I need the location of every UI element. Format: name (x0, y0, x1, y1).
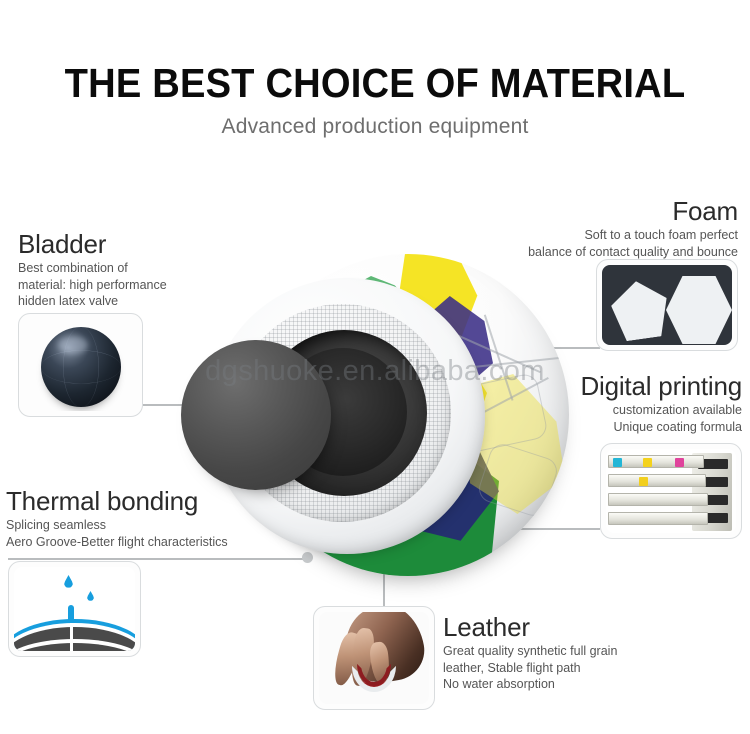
feature-foam-text: Foam Soft to a touch foam perfect balanc… (528, 197, 738, 260)
bladder-description: Best combination of material: high perfo… (18, 260, 167, 310)
digital-printing-image-card (600, 443, 742, 539)
latex-bladder-sphere (181, 340, 331, 490)
foam-hexagon-panel (666, 276, 732, 344)
thermal-bonding-description: Splicing seamless Aero Groove-Better fli… (6, 517, 228, 550)
page-subtitle: Advanced production equipment (0, 115, 750, 139)
gloss-highlight (58, 336, 88, 354)
seam-center-split (70, 623, 73, 651)
bladder-line-2: material: high performance (18, 277, 167, 294)
ink-cyan (613, 458, 622, 467)
foam-image-card (596, 259, 738, 351)
hand-bending-leather-photo (319, 612, 429, 704)
ink-yellow (639, 477, 648, 486)
foam-pentagon-panel (608, 277, 672, 342)
foam-line-1: Soft to a touch foam perfect (528, 227, 738, 244)
ink-tray (608, 493, 708, 506)
thermal-bonding-heading: Thermal bonding (6, 487, 228, 515)
ink-tray (608, 474, 706, 487)
digital-printing-heading: Digital printing (580, 372, 742, 400)
feature-bladder-text: Bladder Best combination of material: hi… (18, 230, 167, 310)
feature-digital-printing-text: Digital printing customization available… (580, 372, 742, 435)
feature-leather-text: Leather Great quality synthetic full gra… (443, 613, 617, 693)
leather-image-card (313, 606, 435, 710)
bladder-image-card (18, 313, 143, 417)
thermal-bonding-image-card (8, 561, 141, 657)
bladder-line-3: hidden latex valve (18, 293, 167, 310)
cutaway-ball-illustration (175, 248, 575, 588)
ink-tray (608, 512, 708, 525)
leather-heading: Leather (443, 613, 617, 641)
feature-thermal-bonding-text: Thermal bonding Splicing seamless Aero G… (6, 487, 228, 550)
leather-line-1: Great quality synthetic full grain (443, 643, 617, 660)
thermal-bonding-line-2: Aero Groove-Better flight characteristic… (6, 534, 228, 551)
foam-line-2: balance of contact quality and bounce (528, 244, 738, 261)
digital-printing-description: customization available Unique coating f… (580, 402, 742, 435)
water-droplet (64, 575, 73, 588)
bladder-photo (24, 319, 137, 411)
leather-line-3: No water absorption (443, 676, 617, 693)
leather-line-2: leather, Stable flight path (443, 660, 617, 677)
latex-bladder-ball-graphic (41, 327, 121, 407)
thermal-bonding-line-1: Splicing seamless (6, 517, 228, 534)
infographic-canvas: THE BEST CHOICE OF MATERIAL Advanced pro… (0, 0, 750, 734)
ink-magenta (675, 458, 684, 467)
page-title: THE BEST CHOICE OF MATERIAL (26, 62, 724, 105)
bladder-heading: Bladder (18, 230, 167, 258)
ink-tray (608, 455, 704, 468)
water-droplet (87, 591, 94, 601)
foam-heading: Foam (528, 197, 738, 225)
header: THE BEST CHOICE OF MATERIAL Advanced pro… (0, 62, 750, 139)
digital-printing-line-1: customization available (580, 402, 742, 419)
bladder-line-1: Best combination of (18, 260, 167, 277)
foam-description: Soft to a touch foam perfect balance of … (528, 227, 738, 260)
digital-printer-photo (606, 449, 736, 533)
ink-yellow (643, 458, 652, 467)
foam-photo (602, 265, 732, 345)
waterproof-seam-diagram-graphic (14, 567, 135, 651)
digital-printing-line-2: Unique coating formula (580, 419, 742, 436)
leather-description: Great quality synthetic full grain leath… (443, 643, 617, 693)
